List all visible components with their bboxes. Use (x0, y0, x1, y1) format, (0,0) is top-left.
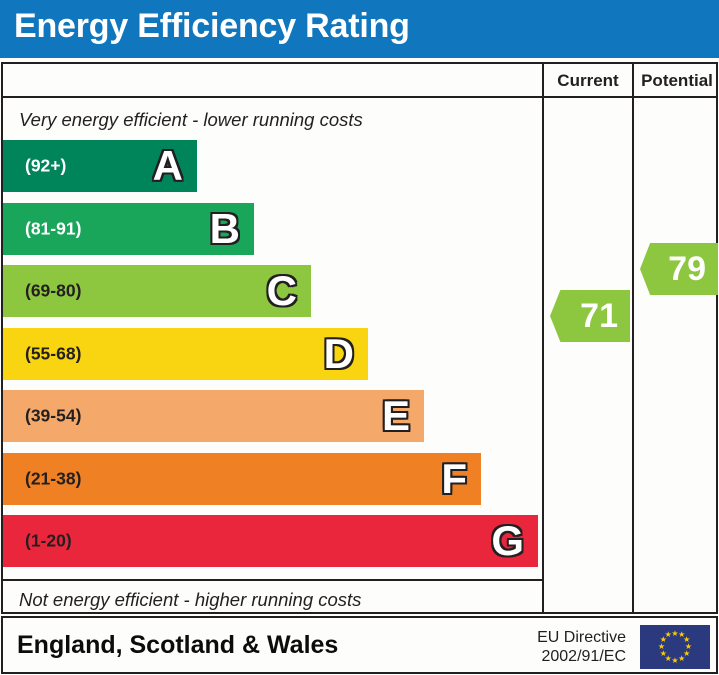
band-letter-f: F (441, 458, 467, 500)
title-bar: Energy Efficiency Rating (0, 0, 719, 58)
band-range-c: (69-80) (25, 281, 81, 302)
footer-directive: EU Directive 2002/91/EC (508, 628, 626, 666)
band-bar-g: (1-20)G (3, 515, 538, 567)
footer-bar: England, Scotland & Wales EU Directive 2… (1, 616, 718, 674)
band-bar-f: (21-38)F (3, 453, 481, 505)
band-letter-b: B (210, 208, 240, 250)
band-bar-b: (81-91)B (3, 203, 254, 255)
potential-rating-value: 79 (668, 252, 706, 286)
footer-directive-line2: 2002/91/EC (508, 647, 626, 666)
rating-table: Current Potential Very energy efficient … (1, 62, 718, 614)
eu-star-icon: ★ (664, 631, 672, 639)
band-letter-g: G (491, 520, 524, 562)
band-letter-e: E (382, 395, 410, 437)
energy-efficiency-rating-certificate: Energy Efficiency Rating Current Potenti… (0, 0, 719, 675)
band-range-a: (92+) (25, 156, 66, 177)
column-header-current: Current (544, 71, 632, 91)
band-range-b: (81-91) (25, 218, 81, 239)
band-range-d: (55-68) (25, 343, 81, 364)
eu-flag-icon: ★★★★★★★★★★★★ (640, 625, 710, 669)
current-rating-value: 71 (580, 299, 618, 333)
band-bar-c: (69-80)C (3, 265, 311, 317)
band-range-g: (1-20) (25, 531, 72, 552)
caption-bottom: Not energy efficient - higher running co… (19, 589, 361, 611)
current-rating-arrow: 71 (550, 290, 630, 342)
column-divider-potential (632, 64, 634, 612)
band-letter-c: C (267, 270, 297, 312)
band-range-e: (39-54) (25, 406, 81, 427)
potential-rating-arrow: 79 (640, 243, 718, 295)
band-letter-a: A (153, 145, 183, 187)
band-letter-d: D (324, 333, 354, 375)
column-header-potential: Potential (634, 71, 719, 91)
band-bar-d: (55-68)D (3, 328, 368, 380)
band-range-f: (21-38) (25, 468, 81, 489)
caption-divider (3, 579, 542, 581)
column-divider-current (542, 64, 544, 612)
band-bars: (92+)A(81-91)B(69-80)C(55-68)D(39-54)E(2… (3, 64, 542, 612)
footer-directive-line1: EU Directive (508, 628, 626, 647)
page-title: Energy Efficiency Rating (14, 7, 410, 46)
band-bar-e: (39-54)E (3, 390, 424, 442)
footer-region-label: England, Scotland & Wales (17, 631, 338, 660)
band-bar-a: (92+)A (3, 140, 197, 192)
